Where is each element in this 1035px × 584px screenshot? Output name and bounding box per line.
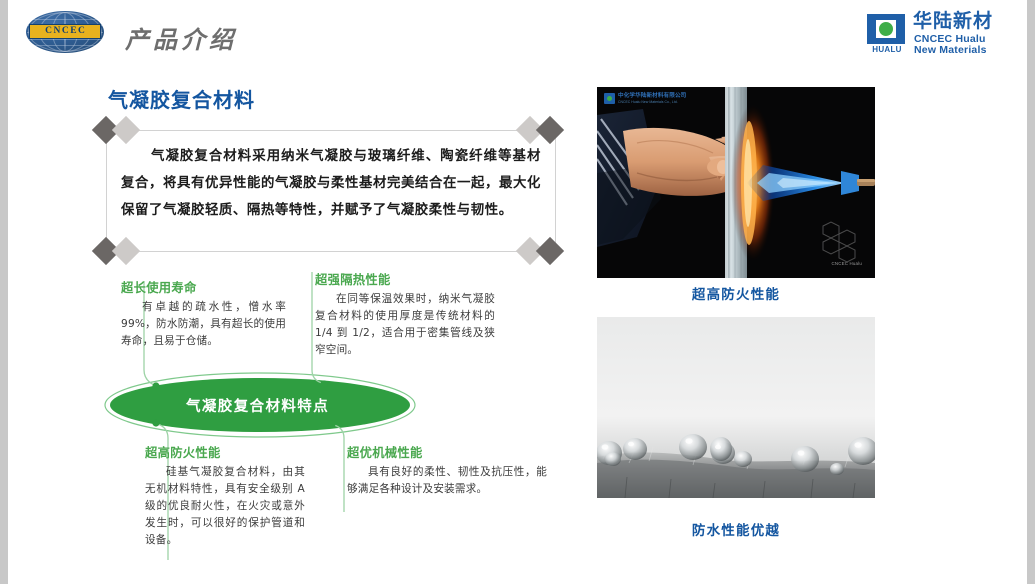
feature-body: 硅基气凝胶复合材料，由其无机材料特性，具有安全级别 A 级的优良耐火性，在火灾或… bbox=[145, 464, 305, 549]
photo-waterproof-demo bbox=[597, 317, 875, 498]
diagram-center-label: 气凝胶复合材料特点 bbox=[186, 395, 329, 416]
feature-title: 超高防火性能 bbox=[145, 443, 305, 461]
feature-body: 具有良好的柔性、韧性及抗压性，能够满足各种设计及安装需求。 bbox=[347, 464, 547, 498]
photo-caption-fireproof: 超高防火性能 bbox=[597, 283, 875, 303]
feature-title: 超优机械性能 bbox=[347, 443, 547, 461]
photo-watermark-logo: 中化学华陆新材料有限公司 CNCEC Hualu New Materials C… bbox=[604, 93, 686, 104]
watermark-english: CNCEC Hualu New Materials Co., Ltd. bbox=[618, 100, 686, 104]
watermark-molecule-icon bbox=[809, 220, 865, 266]
feature-body: 有卓越的疏水性，憎水率99%，防水防潮，具有超长的使用寿命，且易于仓储。 bbox=[121, 299, 286, 350]
watermark-molecule-label: CNCEC Hualu bbox=[831, 261, 862, 266]
feature-body: 在同等保温效果时，纳米气凝胶复合材料的使用厚度是传统材料的 1/4 到 1/2，… bbox=[315, 291, 495, 359]
watermark-mark-icon bbox=[604, 93, 615, 104]
feature-title: 超长使用寿命 bbox=[121, 278, 286, 296]
watermark-chinese: 中化学华陆新材料有限公司 bbox=[618, 93, 686, 100]
photo-fireproof-demo: 中化学华陆新材料有限公司 CNCEC Hualu New Materials C… bbox=[597, 87, 875, 278]
feature-block-fireproof: 超高防火性能 硅基气凝胶复合材料，由其无机材料特性，具有安全级别 A 级的优良耐… bbox=[145, 443, 305, 549]
photo-caption-waterproof: 防水性能优越 bbox=[597, 519, 875, 539]
feature-block-life: 超长使用寿命 有卓越的疏水性，憎水率99%，防水防潮，具有超长的使用寿命，且易于… bbox=[121, 278, 286, 350]
waterproof-demo-illustration bbox=[597, 317, 875, 498]
feature-title: 超强隔热性能 bbox=[315, 270, 495, 288]
slide-canvas: C N C E C 产品介绍 HUALU 华陆新材 CNCEC Hualu Ne… bbox=[8, 0, 1027, 584]
feature-block-mechanical: 超优机械性能 具有良好的柔性、韧性及抗压性，能够满足各种设计及安装需求。 bbox=[347, 443, 547, 498]
feature-block-insulation: 超强隔热性能 在同等保温效果时，纳米气凝胶复合材料的使用厚度是传统材料的 1/4… bbox=[315, 270, 495, 359]
